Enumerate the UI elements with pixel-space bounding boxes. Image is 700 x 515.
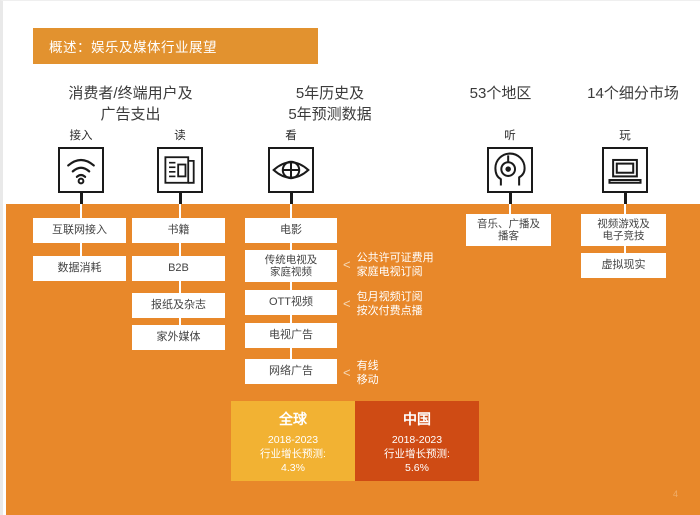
list-item[interactable]: 音乐、广播及 播客 xyxy=(466,214,551,246)
column-heading-segments: 14个细分市场 xyxy=(563,83,700,104)
wifi-icon xyxy=(58,147,104,193)
list-item[interactable]: 数据消耗 xyxy=(33,256,126,281)
list-item-line2: 家庭视频 xyxy=(265,266,318,279)
growth-box-global-value: 4.3% xyxy=(281,461,305,475)
list-item[interactable]: 传统电视及 家庭视频 xyxy=(245,250,337,282)
annotation-line1: 公共许可证费用 xyxy=(357,251,434,265)
verb-label-listen: 听 xyxy=(475,127,545,143)
verb-label-read: 读 xyxy=(145,127,215,143)
growth-box-china-value: 5.6% xyxy=(405,461,429,475)
annotation-internet-ads: < 有线 移动 xyxy=(343,359,379,387)
list-item-line1: 视频游戏及 xyxy=(597,218,650,231)
list-item[interactable]: B2B xyxy=(132,256,225,281)
slide-title-text: 概述：娱乐及媒体行业展望 xyxy=(33,36,217,56)
link-read-3 xyxy=(179,318,181,325)
annotation-line2: 按次付费点播 xyxy=(357,304,423,318)
list-item[interactable]: 书籍 xyxy=(132,218,225,243)
growth-box-global-metric-label: 行业增长预测: xyxy=(260,447,326,461)
annotation-line1: 包月视频订阅 xyxy=(357,290,423,304)
column-heading-territories: 53个地区 xyxy=(433,83,568,104)
list-item[interactable]: 虚拟现实 xyxy=(581,253,666,278)
growth-box-china: 中国 2018-2023 行业增长预测: 5.6% xyxy=(355,401,479,481)
list-item[interactable]: 视频游戏及 电子竞技 xyxy=(581,214,666,246)
chevron-left-icon: < xyxy=(343,366,351,380)
list-item[interactable]: 网络广告 xyxy=(245,359,337,384)
list-item[interactable]: OTT视频 xyxy=(245,290,337,315)
newspaper-icon xyxy=(157,147,203,193)
list-item-line1: 传统电视及 xyxy=(265,254,318,267)
verb-label-access: 接入 xyxy=(46,127,116,143)
link-read-1 xyxy=(179,243,181,256)
annotation-ott: < 包月视频订阅 按次付费点播 xyxy=(343,290,423,318)
link-access-1 xyxy=(80,243,82,256)
link-watch-2 xyxy=(290,282,292,290)
list-item-line2: 播客 xyxy=(477,230,540,243)
list-item[interactable]: 报纸及杂志 xyxy=(132,293,225,318)
eye-globe-icon xyxy=(268,147,314,193)
chevron-left-icon: < xyxy=(343,297,351,311)
column-heading-history-line2: 5年预测数据 xyxy=(235,104,425,125)
column-heading-territories-line1: 53个地区 xyxy=(433,83,568,104)
band-stem-read xyxy=(179,204,181,218)
slide-title-bar: 概述：娱乐及媒体行业展望 xyxy=(33,28,318,64)
band-stem-access xyxy=(80,204,82,218)
annotation-line1: 有线 xyxy=(357,359,379,373)
column-heading-history: 5年历史及 5年预测数据 xyxy=(235,83,425,125)
annotation-line2: 家庭电视订阅 xyxy=(357,265,434,279)
annotation-traditional-tv: < 公共许可证费用 家庭电视订阅 xyxy=(343,251,434,279)
verb-label-play: 玩 xyxy=(590,127,660,143)
column-heading-consumer: 消费者/终端用户及 广告支出 xyxy=(28,83,233,125)
headphones-head-icon xyxy=(487,147,533,193)
chevron-left-icon: < xyxy=(343,258,351,272)
slide-canvas: 概述：娱乐及媒体行业展望 消费者/终端用户及 广告支出 5年历史及 5年预测数据… xyxy=(0,0,700,515)
growth-box-china-period: 2018-2023 xyxy=(392,433,442,447)
link-watch-3 xyxy=(290,315,292,323)
page-number: 4 xyxy=(673,489,678,499)
band-stem-watch xyxy=(290,204,292,218)
list-item[interactable]: 电影 xyxy=(245,218,337,243)
column-heading-segments-line1: 14个细分市场 xyxy=(563,83,700,104)
laptop-icon xyxy=(602,147,648,193)
list-item[interactable]: 电视广告 xyxy=(245,323,337,348)
growth-box-china-name: 中国 xyxy=(403,409,431,429)
annotation-line2: 移动 xyxy=(357,373,379,387)
list-item[interactable]: 家外媒体 xyxy=(132,325,225,350)
link-watch-4 xyxy=(290,348,292,359)
list-item-line1: 音乐、广播及 xyxy=(477,218,540,231)
column-heading-consumer-line2: 广告支出 xyxy=(28,104,233,125)
list-item-line2: 电子竞技 xyxy=(597,230,650,243)
column-heading-history-line1: 5年历史及 xyxy=(235,83,425,104)
growth-box-global-name: 全球 xyxy=(279,409,307,429)
growth-box-china-metric-label: 行业增长预测: xyxy=(384,447,450,461)
link-read-2 xyxy=(179,281,181,293)
verb-label-watch: 看 xyxy=(256,127,326,143)
list-item[interactable]: 互联网接入 xyxy=(33,218,126,243)
growth-box-global: 全球 2018-2023 行业增长预测: 4.3% xyxy=(231,401,355,481)
link-play-1 xyxy=(624,246,626,253)
column-heading-consumer-line1: 消费者/终端用户及 xyxy=(28,83,233,104)
growth-box-global-period: 2018-2023 xyxy=(268,433,318,447)
